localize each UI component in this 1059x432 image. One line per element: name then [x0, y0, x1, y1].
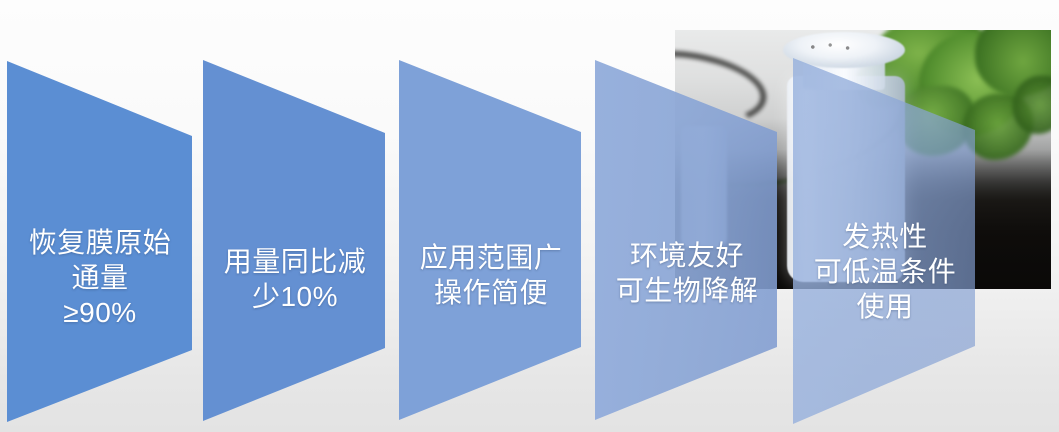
feature-panel-5-label: 发热性 可低温条件 使用: [785, 219, 985, 324]
feature-panel-3[interactable]: 应用范围广 操作简便: [391, 50, 591, 432]
feature-panel-3-label: 应用范围广 操作简便: [391, 240, 591, 310]
slide-canvas: 恢复膜原始 通量 ≥90% 用量同比减 少10% 应用范围广 操作简便 环境友好…: [0, 0, 1059, 432]
feature-panel-1[interactable]: 恢复膜原始 通量 ≥90%: [0, 50, 200, 432]
feature-panel-2-label: 用量同比减 少10%: [195, 244, 395, 314]
photo-bottle-cap-speckles: [807, 42, 865, 52]
feature-panel-2[interactable]: 用量同比减 少10%: [195, 50, 395, 432]
feature-panel-1-label: 恢复膜原始 通量 ≥90%: [0, 225, 200, 330]
feature-panel-4-label: 环境友好 可生物降解: [587, 238, 787, 308]
